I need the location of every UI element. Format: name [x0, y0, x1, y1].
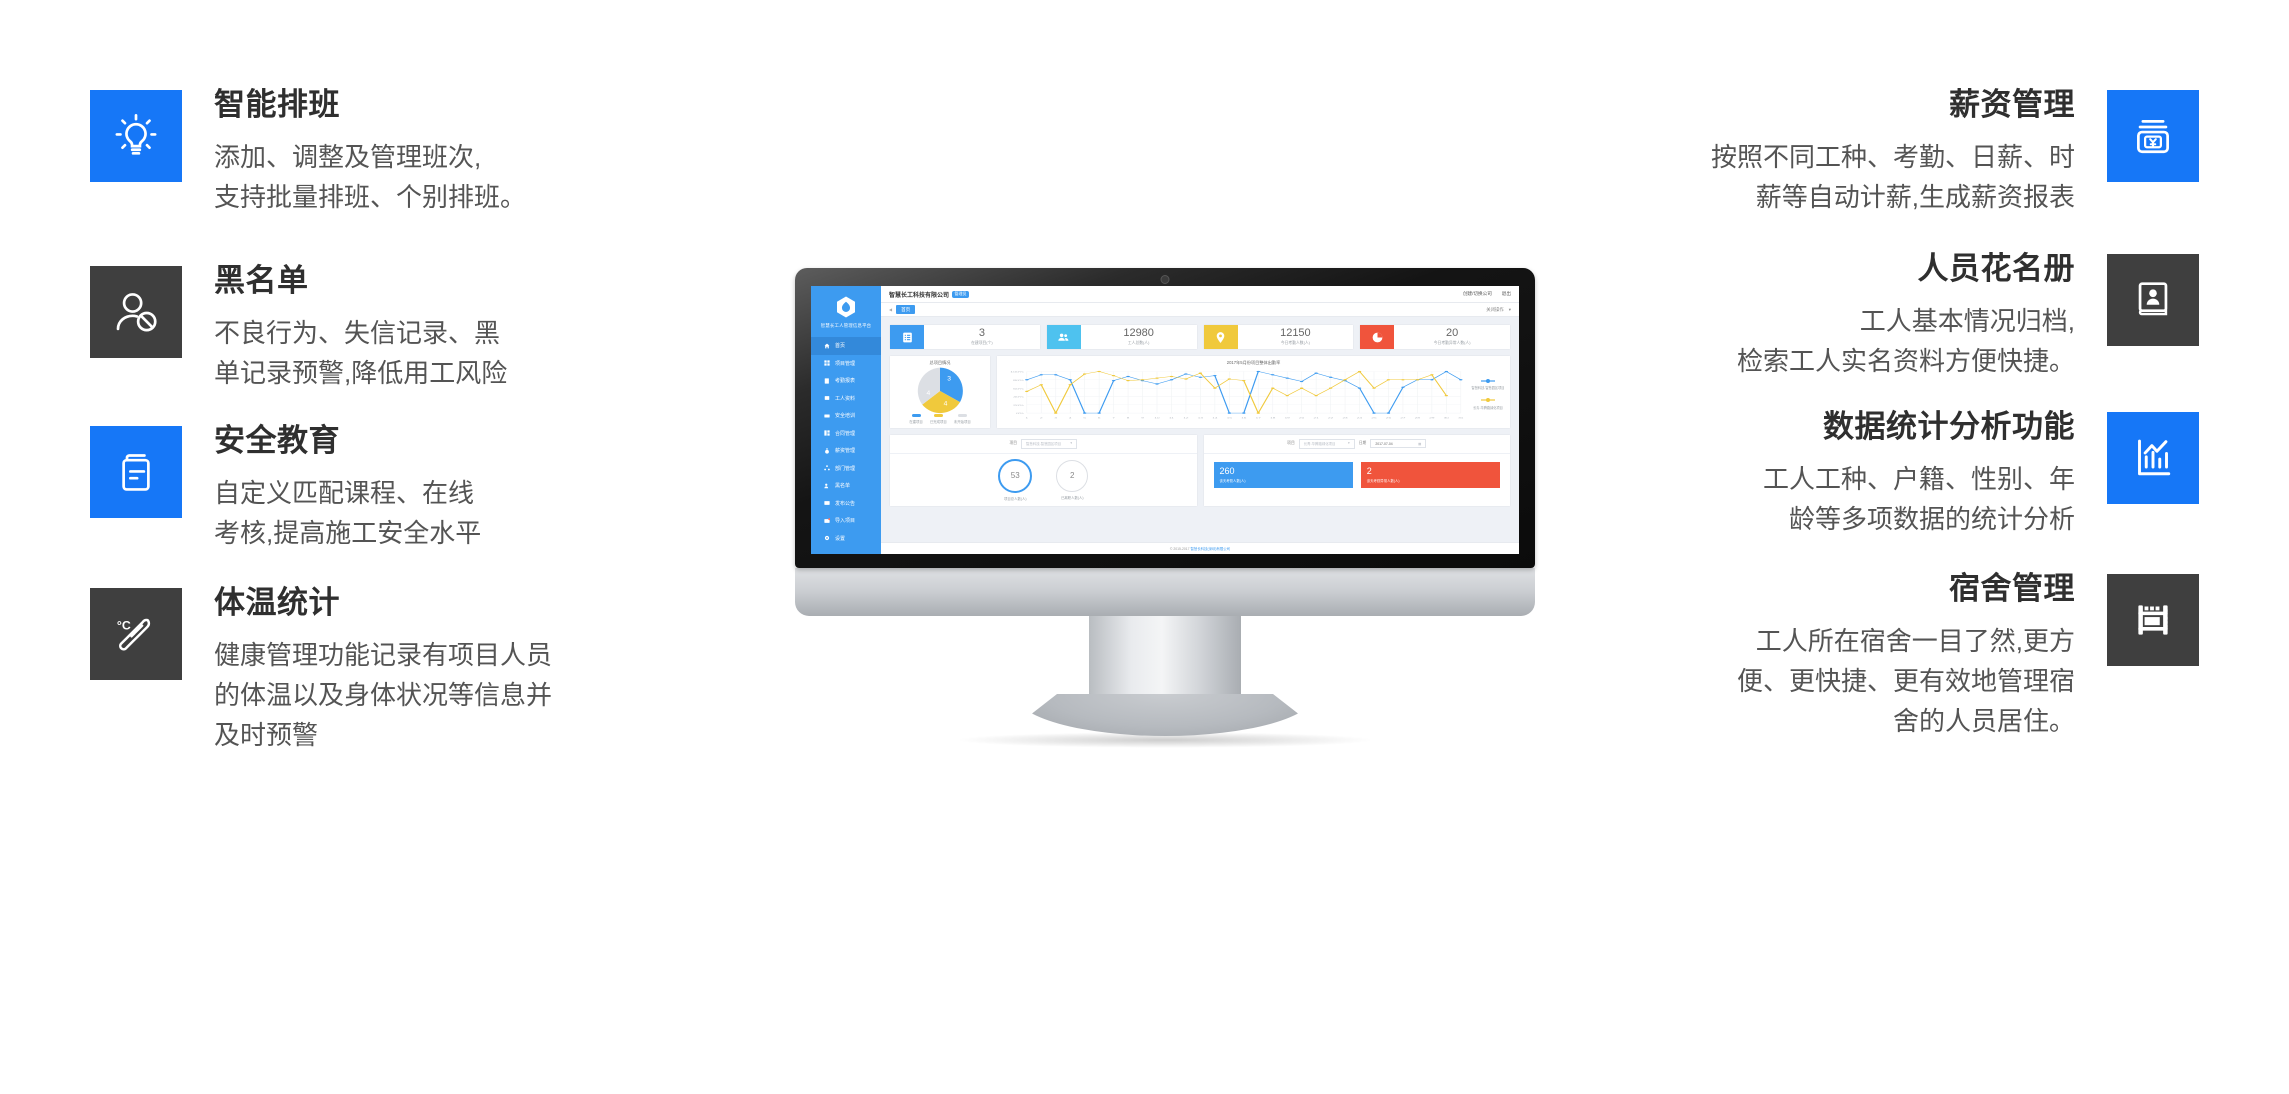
- sidebar-item-label: 导入项目: [835, 517, 855, 524]
- worker-icon: [824, 395, 830, 401]
- report-icon: [824, 378, 830, 384]
- project-filter-label: 项目: [1287, 441, 1295, 446]
- sidebar-item-home[interactable]: 首页: [811, 337, 881, 355]
- svg-text:17: 17: [1256, 417, 1261, 419]
- feature-text: 数据统计分析功能 工人工种、户籍、性别、年 龄等多项数据的统计分析: [1539, 408, 2107, 539]
- svg-text:31: 31: [1458, 417, 1463, 419]
- logout-button[interactable]: 退出: [1502, 291, 1511, 297]
- app-logo-icon: [834, 295, 858, 319]
- legend-item: 未开始项目: [954, 414, 971, 424]
- contract-icon: [824, 430, 830, 436]
- switch-company-button[interactable]: 创建/切换公司: [1463, 291, 1492, 297]
- sidebar-item-label: 工人资料: [835, 395, 855, 402]
- department-icon: [824, 465, 830, 471]
- legend-item: 已完成项目: [930, 414, 947, 424]
- line-chart-svg: 0%20%40%60%80%100%1234567891011121314151…: [1002, 368, 1467, 420]
- sidebar-item-contract[interactable]: 合同管理: [811, 425, 881, 443]
- monitor-bezel: 智慧长工人管理信息平台 首页 项目管理 考勤报表 工人资料 安全培训 合同管理 …: [795, 268, 1535, 568]
- line-chart: 0%20%40%60%80%100%1234567891011121314151…: [997, 368, 1510, 424]
- left-feature-column: 智能排班 添加、调整及管理班次, 支持批量排班、个别排班。 黑名单 不良行为、失…: [90, 0, 750, 1094]
- date-filter-label: 日期: [1359, 441, 1367, 446]
- feature-blacklist: 黑名单 不良行为、失信记录、黑 单记录预警,降低用工风险: [90, 262, 750, 393]
- tab-actions: 关闭操作 ▾: [1486, 307, 1511, 313]
- sidebar-item-salary[interactable]: 薪资管理: [811, 442, 881, 460]
- feature-text: 人员花名册 工人基本情况归档, 检索工人实名资料方便快捷。: [1539, 250, 2107, 381]
- kpi-label: 在建项目(个): [971, 341, 993, 346]
- sidebar-item-label: 考勤报表: [835, 377, 855, 384]
- feature-text: 安全教育 自定义匹配课程、在线 考核,提高施工安全水平: [182, 422, 750, 553]
- svg-text:16: 16: [1241, 417, 1246, 419]
- kpi-row: 3 在建项目(个) 12980 工人总数(人): [881, 317, 1519, 349]
- copyright-text: © 2015-2017: [1170, 547, 1191, 551]
- feature-temperature-statistics: °C 体温统计 健康管理功能记录有项目人员 的体温以及身体状况等信息并 及时预警: [90, 584, 750, 756]
- user-blocked-icon: [90, 266, 182, 358]
- ring-value: 53: [998, 459, 1032, 493]
- sidebar-item-label: 部门管理: [835, 465, 855, 472]
- ring-left-people: 2 已离职人数(人): [1056, 460, 1088, 500]
- feature-title: 黑名单: [214, 262, 750, 301]
- sidebar-item-import[interactable]: 导入项目: [811, 512, 881, 530]
- feature-description: 工人工种、户籍、性别、年 龄等多项数据的统计分析: [1539, 459, 2075, 540]
- sidebar-item-label: 合同管理: [835, 430, 855, 437]
- dashboard-sidebar: 智慧长工人管理信息平台 首页 项目管理 考勤报表 工人资料 安全培训 合同管理 …: [811, 286, 881, 554]
- daily-attendance-card: 项目 长青-华腾路绿化项目 ▾ 日期 2017-07-04 ▦: [1204, 435, 1511, 506]
- pie-icon: [1360, 325, 1394, 349]
- kpi-card-projects: 3 在建项目(个): [890, 325, 1040, 349]
- people-icon: [1047, 325, 1081, 349]
- svg-text:29: 29: [1429, 417, 1434, 419]
- svg-text:18: 18: [1270, 417, 1275, 419]
- project-select-value: 长青-华腾路绿化项目: [1304, 441, 1336, 446]
- gear-icon: [824, 535, 830, 541]
- svg-text:4: 4: [1069, 417, 1072, 419]
- ring-total-people: 53 项目总人数(人): [998, 459, 1032, 501]
- feature-title: 人员花名册: [1539, 250, 2075, 289]
- project-people-card: 项目 智慧科技-智慧园区项目 ▾ 53 项目总人数(人): [890, 435, 1197, 506]
- sidebar-item-worker[interactable]: 工人资料: [811, 390, 881, 408]
- kpi-value: 12980: [1123, 328, 1154, 339]
- kpi-body: 3 在建项目(个): [924, 325, 1040, 349]
- monitor-chin: [795, 568, 1535, 616]
- svg-text:5: 5: [1083, 417, 1086, 419]
- monitor-screen: 智慧长工人管理信息平台 首页 项目管理 考勤报表 工人资料 安全培训 合同管理 …: [811, 286, 1519, 554]
- training-icon: [824, 413, 830, 419]
- feature-personnel-roster: 人员花名册 工人基本情况归档, 检索工人实名资料方便快捷。: [1539, 250, 2199, 381]
- feature-title: 智能排班: [214, 86, 750, 125]
- ring-value: 2: [1056, 460, 1088, 492]
- bar-chart-icon: [2107, 412, 2199, 504]
- close-ops-dropdown[interactable]: 关闭操作: [1486, 307, 1504, 313]
- grid-icon: [824, 360, 830, 366]
- ring-label: 项目总人数(人): [998, 496, 1032, 501]
- book-document-icon: [90, 426, 182, 518]
- svg-text:15: 15: [1227, 417, 1232, 419]
- dashboard-app: 智慧长工人管理信息平台 首页 项目管理 考勤报表 工人资料 安全培训 合同管理 …: [811, 286, 1519, 554]
- role-badge: 管理员: [952, 291, 969, 298]
- svg-text:60%: 60%: [1013, 387, 1024, 389]
- svg-text:11: 11: [1169, 417, 1174, 419]
- sidebar-item-department[interactable]: 部门管理: [811, 460, 881, 478]
- svg-text:19: 19: [1285, 417, 1290, 419]
- svg-text:23: 23: [1342, 417, 1347, 419]
- svg-text:4: 4: [926, 390, 930, 397]
- kpi-value: 12150: [1280, 328, 1311, 339]
- project-select[interactable]: 智慧科技-智慧园区项目 ▾: [1021, 439, 1077, 449]
- kpi-label: 工人总数(人): [1128, 341, 1150, 346]
- tile-attendance-count: 260 该天考勤人数(人): [1214, 462, 1353, 488]
- svg-text:27: 27: [1400, 417, 1405, 419]
- platform-name: 智慧长工人管理信息平台: [811, 323, 881, 329]
- sidebar-item-label: 首页: [835, 342, 845, 349]
- project-icon: [890, 325, 924, 349]
- monitor-stand-neck: [1089, 616, 1241, 694]
- footer-company-link[interactable]: 智慧长科技(深圳)有限公司: [1191, 547, 1231, 551]
- feature-text: 薪资管理 按照不同工种、考勤、日薪、时 薪等自动计薪,生成薪资报表: [1539, 86, 2107, 217]
- kpi-card-attendance: 12150 今日考勤人数(人): [1204, 325, 1354, 349]
- kpi-value: 20: [1446, 328, 1458, 339]
- attendance-tiles: 260 该天考勤人数(人) 2 该天考勤异常人数(人): [1204, 454, 1511, 498]
- feature-data-analytics: 数据统计分析功能 工人工种、户籍、性别、年 龄等多项数据的统计分析: [1539, 408, 2199, 539]
- legend-dot: [1471, 379, 1505, 384]
- svg-text:4: 4: [944, 401, 948, 408]
- svg-text:20%: 20%: [1013, 404, 1024, 406]
- chevron-down-icon[interactable]: ▾: [1509, 307, 1511, 313]
- svg-text:28: 28: [1415, 417, 1420, 419]
- monitor-mockup: 智慧长工人管理信息平台 首页 项目管理 考勤报表 工人资料 安全培训 合同管理 …: [795, 268, 1535, 748]
- svg-text:100%: 100%: [1010, 371, 1024, 373]
- feature-description: 健康管理功能记录有项目人员 的体温以及身体状况等信息并 及时预警: [214, 635, 750, 756]
- feature-dormitory-management: 宿舍管理 工人所在宿舍一目了然,更方 便、更快捷、更有效地管理宿 舍的人员居住。: [1539, 570, 2199, 742]
- feature-smart-scheduling: 智能排班 添加、调整及管理班次, 支持批量排班、个别排班。: [90, 86, 750, 217]
- feature-text: 黑名单 不良行为、失信记录、黑 单记录预警,降低用工风险: [182, 262, 750, 393]
- sidebar-item-label: 安全培训: [835, 412, 855, 419]
- sidebar-item-label: 薪资管理: [835, 447, 855, 454]
- header-actions: 创建/切换公司 退出: [1463, 291, 1511, 297]
- svg-text:13: 13: [1198, 417, 1203, 419]
- project-select[interactable]: 长青-华腾路绿化项目 ▾: [1299, 439, 1355, 449]
- sidebar-item-settings[interactable]: 设置: [811, 530, 881, 548]
- dashboard-footer: © 2015-2017 智慧长科技(深圳)有限公司: [881, 542, 1519, 554]
- charts-row: 总项目情况 3 4 4: [881, 349, 1519, 428]
- svg-text:1: 1: [1026, 417, 1029, 419]
- project-filter-label: 项目: [1009, 441, 1017, 446]
- feature-text: 智能排班 添加、调整及管理班次, 支持批量排班、个别排班。: [182, 86, 750, 217]
- feature-title: 宿舍管理: [1539, 570, 2075, 609]
- sidebar-item-training[interactable]: 安全培训: [811, 407, 881, 425]
- svg-text:24: 24: [1357, 417, 1362, 419]
- svg-text:22: 22: [1328, 417, 1333, 419]
- chevron-down-icon: ▾: [1070, 441, 1072, 446]
- kpi-label: 今日考勤异常人数(人): [1434, 341, 1471, 346]
- ring-label: 已离职人数(人): [1056, 495, 1088, 500]
- feature-description: 工人所在宿舍一目了然,更方 便、更快捷、更有效地管理宿 舍的人员居住。: [1539, 621, 2075, 742]
- project-select-value: 智慧科技-智慧园区项目: [1026, 441, 1061, 446]
- tile-abnormal-count: 2 该天考勤异常人数(人): [1361, 462, 1500, 488]
- svg-text:0%: 0%: [1016, 412, 1024, 414]
- people-rings: 53 项目总人数(人) 2 已离职人数(人): [890, 454, 1197, 506]
- feature-text: 宿舍管理 工人所在宿舍一目了然,更方 便、更快捷、更有效地管理宿 舍的人员居住。: [1539, 570, 2107, 742]
- tile-value: 2: [1367, 467, 1494, 476]
- chevron-down-icon: ▾: [1348, 441, 1350, 446]
- date-value: 2017-07-04: [1375, 442, 1392, 446]
- sidebar-menu: 首页 项目管理 考勤报表 工人资料 安全培训 合同管理 薪资管理 部门管理 黑名…: [811, 337, 881, 547]
- dashboard-main: 智慧长工科技有限公司 管理员 创建/切换公司 退出 ◀ 首页 关闭操作 ▾: [881, 286, 1519, 554]
- svg-text:°C: °C: [117, 619, 131, 633]
- svg-text:30: 30: [1444, 417, 1449, 419]
- bunk-bed-icon: [2107, 574, 2199, 666]
- feature-description: 工人基本情况归档, 检索工人实名资料方便快捷。: [1539, 301, 2075, 382]
- attendance-filters: 项目 长青-华腾路绿化项目 ▾ 日期 2017-07-04 ▦: [1204, 435, 1511, 454]
- pie-legend: 在建项目 已完成项目 未开始项目: [890, 414, 990, 428]
- feature-text: 体温统计 健康管理功能记录有项目人员 的体温以及身体状况等信息并 及时预警: [182, 584, 750, 756]
- pie-svg: 3 4 4: [914, 365, 966, 417]
- home-icon: [824, 343, 830, 349]
- svg-text:7: 7: [1112, 417, 1115, 419]
- sidebar-item-blacklist[interactable]: 黑名单: [811, 477, 881, 495]
- address-book-icon: [2107, 254, 2199, 346]
- attendance-rate-line-card: 2017年5月份项目整体出勤率 0%20%40%60%80%100%123456…: [997, 356, 1510, 428]
- feature-description: 按照不同工种、考勤、日薪、时 薪等自动计薪,生成薪资报表: [1539, 137, 2075, 218]
- dashboard-header: 智慧长工科技有限公司 管理员 创建/切换公司 退出: [881, 286, 1519, 303]
- kpi-body: 12150 今日考勤人数(人): [1238, 325, 1354, 349]
- tile-label: 该天考勤异常人数(人): [1367, 478, 1494, 483]
- blacklist-icon: [824, 483, 830, 489]
- wallet-yuan-icon: [2107, 90, 2199, 182]
- right-feature-column: 薪资管理 按照不同工种、考勤、日薪、时 薪等自动计薪,生成薪资报表 人员花名册 …: [1539, 0, 2199, 1094]
- feature-description: 不良行为、失信记录、黑 单记录预警,降低用工风险: [214, 313, 750, 394]
- feature-salary-management: 薪资管理 按照不同工种、考勤、日薪、时 薪等自动计薪,生成薪资报表: [1539, 86, 2199, 217]
- svg-text:9: 9: [1141, 417, 1144, 419]
- legend-item: 长青-华腾路绿化项目: [1471, 398, 1505, 410]
- svg-text:40%: 40%: [1013, 396, 1024, 398]
- pie-chart: 3 4 4: [890, 368, 990, 414]
- project-status-pie-card: 总项目情况 3 4 4: [890, 356, 990, 428]
- feature-title: 数据统计分析功能: [1539, 408, 2075, 447]
- tab-scroll-left-icon[interactable]: ◀: [889, 307, 892, 312]
- svg-text:6: 6: [1098, 417, 1101, 419]
- svg-text:8: 8: [1127, 417, 1130, 419]
- company-name: 智慧长工科技有限公司: [889, 290, 949, 299]
- tile-value: 260: [1220, 467, 1347, 476]
- sidebar-item-report[interactable]: 考勤报表: [811, 372, 881, 390]
- line-legend: 智慧科技-智慧园区项目 长青-华腾路绿化项目: [1467, 368, 1505, 420]
- camera-icon: [1161, 275, 1170, 284]
- sidebar-item-announce[interactable]: 发布公告: [811, 495, 881, 513]
- line-chart-title: 2017年5月份项目整体出勤率: [997, 356, 1510, 368]
- legend-item: 在建项目: [909, 414, 923, 424]
- sidebar-item-label: 黑名单: [835, 482, 850, 489]
- thermometer-icon: °C: [90, 588, 182, 680]
- sidebar-item-label: 项目管理: [835, 360, 855, 367]
- feature-title: 薪资管理: [1539, 86, 2075, 125]
- legend-item: 智慧科技-智慧园区项目: [1471, 379, 1505, 391]
- svg-text:26: 26: [1386, 417, 1391, 419]
- kpi-value: 3: [979, 328, 985, 339]
- svg-text:3: 3: [1054, 417, 1057, 419]
- lightbulb-icon: [90, 90, 182, 182]
- svg-text:10: 10: [1154, 417, 1159, 419]
- sidebar-item-project[interactable]: 项目管理: [811, 355, 881, 373]
- feature-description: 添加、调整及管理班次, 支持批量排班、个别排班。: [214, 137, 750, 218]
- sidebar-logo-area: 智慧长工人管理信息平台: [811, 286, 881, 337]
- project-filter: 项目 智慧科技-智慧园区项目 ▾: [890, 435, 1197, 454]
- svg-text:2: 2: [1040, 417, 1043, 419]
- svg-text:25: 25: [1371, 417, 1376, 419]
- tab-home[interactable]: 首页: [896, 305, 915, 314]
- svg-text:3: 3: [947, 376, 951, 383]
- svg-text:14: 14: [1212, 417, 1217, 419]
- dashboard-tabbar: ◀ 首页 关闭操作 ▾: [881, 303, 1519, 317]
- svg-text:21: 21: [1314, 417, 1319, 419]
- sidebar-item-label: 发布公告: [835, 500, 855, 507]
- tile-label: 该天考勤人数(人): [1220, 478, 1347, 483]
- sidebar-item-label: 设置: [835, 535, 845, 542]
- date-input[interactable]: 2017-07-04 ▦: [1370, 439, 1426, 448]
- kpi-card-workers: 12980 工人总数(人): [1047, 325, 1197, 349]
- legend-dot: [1471, 398, 1505, 403]
- feature-title: 体温统计: [214, 584, 750, 623]
- location-icon: [1204, 325, 1238, 349]
- import-icon: [824, 518, 830, 524]
- kpi-card-abnormal: 20 今日考勤异常人数(人): [1360, 325, 1510, 349]
- feature-description: 自定义匹配课程、在线 考核,提高施工安全水平: [214, 473, 750, 554]
- monitor-stand-base: [1015, 694, 1315, 736]
- announce-icon: [824, 500, 830, 506]
- calendar-icon: ▦: [1418, 442, 1421, 446]
- svg-text:20: 20: [1299, 417, 1304, 419]
- kpi-body: 20 今日考勤异常人数(人): [1394, 325, 1510, 349]
- summary-row: 项目 智慧科技-智慧园区项目 ▾ 53 项目总人数(人): [881, 428, 1519, 512]
- svg-text:12: 12: [1183, 417, 1188, 419]
- feature-safety-education: 安全教育 自定义匹配课程、在线 考核,提高施工安全水平: [90, 422, 750, 553]
- kpi-label: 今日考勤人数(人): [1281, 341, 1310, 346]
- svg-text:80%: 80%: [1013, 379, 1024, 381]
- feature-title: 安全教育: [214, 422, 750, 461]
- salary-icon: [824, 448, 830, 454]
- kpi-body: 12980 工人总数(人): [1081, 325, 1197, 349]
